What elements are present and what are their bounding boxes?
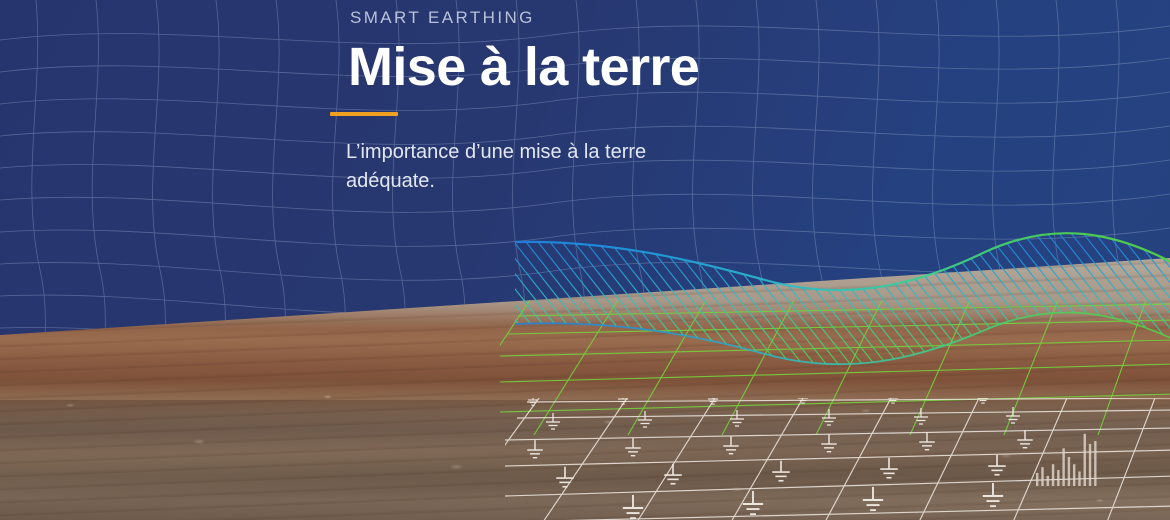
hero-banner: SMART EARTHING Mise à la terre L’importa… bbox=[0, 0, 1170, 520]
hero-copy: SMART EARTHING Mise à la terre L’importa… bbox=[346, 0, 866, 195]
page-title: Mise à la terre bbox=[348, 39, 866, 95]
foreground-shadow bbox=[0, 400, 1170, 520]
eyebrow-label: SMART EARTHING bbox=[350, 9, 866, 26]
subtitle-text: L’importance d’une mise à la terre adéqu… bbox=[346, 138, 706, 195]
accent-rule bbox=[330, 112, 398, 116]
